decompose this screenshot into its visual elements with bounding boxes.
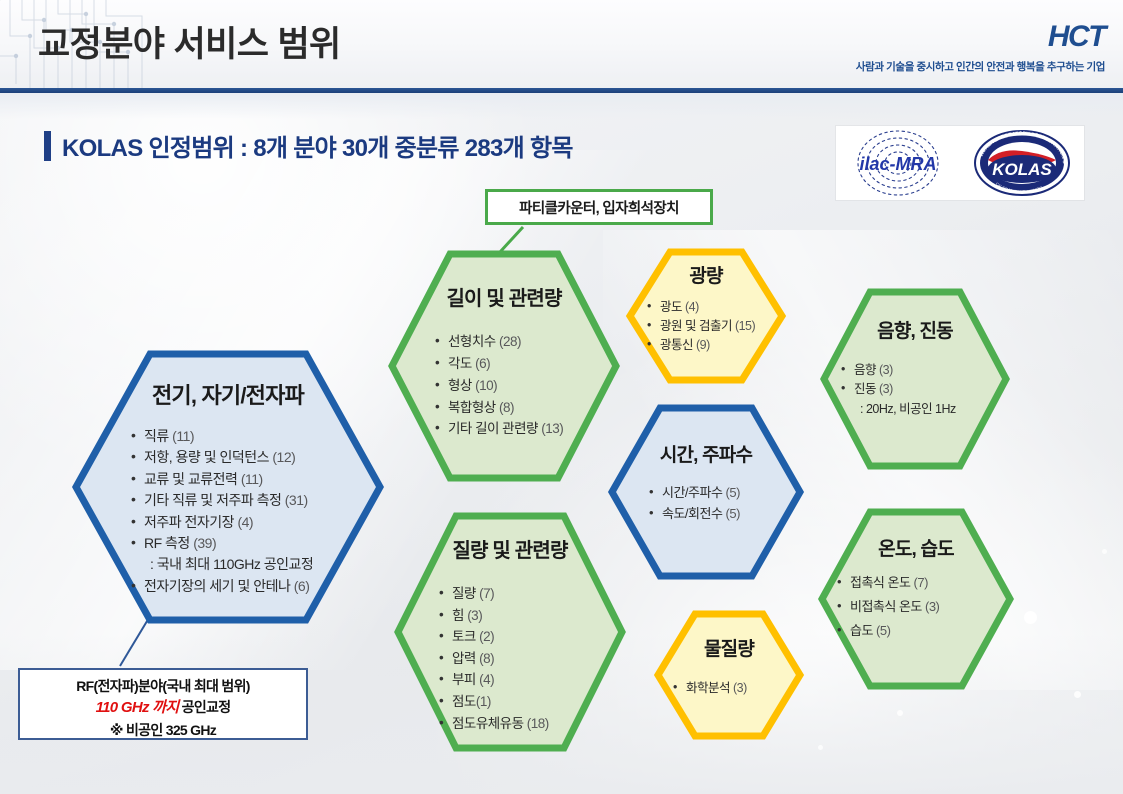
header-underglow xyxy=(0,93,1123,119)
list-item: 교류 및 교류전력 (11) xyxy=(130,469,313,490)
list-item: 전자기장의 세기 및 안테나 (6) xyxy=(130,576,313,597)
callout-rf-range: RF(전자파)분야(국내 최대 범위) 110 GHz 까지 공인교정 ※ 비공… xyxy=(18,668,308,740)
list-item: 질량 (7) xyxy=(438,583,549,605)
hexagon-item-list: 접촉식 온도 (7) 비접촉식 온도 (3) 습도 (5) xyxy=(836,571,939,643)
ilac-mra-logo: ilac-MRA xyxy=(839,128,957,198)
hexagon-title: 전기, 자기/전자파 xyxy=(152,378,304,410)
callout-rf-line3: ※ 비공인 325 GHz xyxy=(20,720,306,741)
list-item: 점도(1) xyxy=(438,691,549,713)
hexagon-temperature[interactable]: 온도, 습도 접촉식 온도 (7) 비접촉식 온도 (3) 습도 (5) xyxy=(818,508,1014,690)
hexagon-item-list: 광도 (4) 광원 및 검출기 (15) 광통신 (9) xyxy=(646,298,755,354)
list-item: 진동 (3) xyxy=(840,380,956,399)
list-item: 저항, 용량 및 인덕턴스 (12) xyxy=(130,447,313,468)
list-item: 직류 (11) xyxy=(130,426,313,447)
list-item: 저주파 전자기장 (4) xyxy=(130,512,313,533)
hexagon-title: 시간, 주파수 xyxy=(660,440,752,467)
list-item: 부피 (4) xyxy=(438,669,549,691)
hexagon-title: 온도, 습도 xyxy=(878,534,954,561)
list-item: 각도 (6) xyxy=(434,353,563,375)
list-item: RF 측정 (39) xyxy=(130,533,313,554)
list-item: 광통신 (9) xyxy=(646,336,755,355)
list-item: 속도/회전수 (5) xyxy=(648,504,740,525)
hexagon-electric[interactable]: 전기, 자기/전자파 직류 (11) 저항, 용량 및 인덕턴스 (12) 교류… xyxy=(72,350,384,624)
list-item: 습도 (5) xyxy=(836,619,939,643)
list-item: 시간/주파수 (5) xyxy=(648,483,740,504)
callout-particle-counter: 파티클카운터, 입자희석장치 xyxy=(485,189,713,225)
hexagon-item-list: 선형치수 (28) 각도 (6) 형상 (10) 복합형상 (8) 기타 길이 … xyxy=(434,331,563,440)
callout-rf-line1: RF(전자파)분야(국내 최대 범위) xyxy=(20,676,306,697)
list-item: 음향 (3) xyxy=(840,361,956,380)
callout-rf-highlight: 110 GHz 까지 xyxy=(96,699,179,716)
list-item: 선형치수 (28) xyxy=(434,331,563,353)
hexagon-length[interactable]: 길이 및 관련량 선형치수 (28) 각도 (6) 형상 (10) 복합형상 (… xyxy=(388,250,620,482)
hct-wordmark: HCT xyxy=(856,22,1105,52)
list-item: 토크 (2) xyxy=(438,626,549,648)
hexagon-time[interactable]: 시간, 주파수 시간/주파수 (5) 속도/회전수 (5) xyxy=(608,404,804,580)
bokeh-dot xyxy=(818,745,823,750)
hexagon-title: 길이 및 관련량 xyxy=(446,282,561,311)
hexagon-acoustic[interactable]: 음향, 진동 음향 (3) 진동 (3) : 20Hz, 비공인 1Hz xyxy=(820,288,1010,470)
list-item: 압력 (8) xyxy=(438,648,549,670)
bokeh-dot xyxy=(1074,691,1081,698)
hexagon-item-list: 시간/주파수 (5) 속도/회전수 (5) xyxy=(648,483,740,525)
list-item: 복합형상 (8) xyxy=(434,397,563,419)
hexagon-title: 물질량 xyxy=(704,634,754,661)
hexagon-item-list: 음향 (3) 진동 (3) : 20Hz, 비공인 1Hz xyxy=(840,361,956,419)
list-item: 광도 (4) xyxy=(646,298,755,317)
callout-rf-line2: 110 GHz 까지 공인교정 xyxy=(20,697,306,720)
hexagon-mass[interactable]: 질량 및 관련량 질량 (7) 힘 (3) 토크 (2) 압력 (8) 부피 (… xyxy=(394,512,626,752)
hexagon-title: 질량 및 관련량 xyxy=(452,534,567,563)
hexagon-item-list: 질량 (7) 힘 (3) 토크 (2) 압력 (8) 부피 (4) 점도(1) … xyxy=(438,583,549,734)
list-item: 기타 직류 및 저주파 측정 (31) xyxy=(130,490,313,511)
list-item-note: : 20Hz, 비공인 1Hz xyxy=(840,400,956,419)
hct-tagline: 사람과 기술을 중시하고 인간의 안전과 행복을 추구하는 기업 xyxy=(856,59,1105,74)
slide-header: 교정분야 서비스 범위 HCT 사람과 기술을 중시하고 인간의 안전과 행복을… xyxy=(0,0,1123,88)
list-item: 접촉식 온도 (7) xyxy=(836,571,939,595)
list-item-note: : 국내 최대 110GHz 공인교정 xyxy=(130,554,313,575)
subtitle-row: KOLAS 인정범위 : 8개 분야 30개 중분류 283개 항목 xyxy=(44,128,573,163)
list-item: 힘 (3) xyxy=(438,605,549,627)
slide-canvas: 교정분야 서비스 범위 HCT 사람과 기술을 중시하고 인간의 안전과 행복을… xyxy=(0,0,1123,794)
page-title: 교정분야 서비스 범위 xyxy=(38,16,341,67)
subtitle-text: KOLAS 인정범위 : 8개 분야 30개 중분류 283개 항목 xyxy=(62,128,573,163)
hct-logo: HCT 사람과 기술을 중시하고 인간의 안전과 행복을 추구하는 기업 xyxy=(856,22,1105,74)
hexagon-title: 음향, 진동 xyxy=(877,316,953,343)
hexagon-item-list: 직류 (11) 저항, 용량 및 인덕턴스 (12) 교류 및 교류전력 (11… xyxy=(130,426,313,597)
bokeh-dot xyxy=(1102,549,1107,554)
hexagon-item-list: 화학분석 (3) xyxy=(672,679,747,698)
list-item: 점도유체유동 (18) xyxy=(438,713,549,735)
callout-rf-line2-rest: 공인교정 xyxy=(178,699,230,715)
hexagon-light[interactable]: 광량 광도 (4) 광원 및 검출기 (15) 광통신 (9) xyxy=(626,248,786,384)
kolas-label: KOLAS xyxy=(992,160,1052,179)
list-item: 기타 길이 관련량 (13) xyxy=(434,418,563,440)
list-item: 화학분석 (3) xyxy=(672,679,747,698)
callout-particle-text: 파티클카운터, 입자희석장치 xyxy=(519,197,679,218)
list-item: 형상 (10) xyxy=(434,375,563,397)
list-item: 광원 및 검출기 (15) xyxy=(646,317,755,336)
bokeh-dot xyxy=(1024,611,1037,624)
list-item: 비접촉식 온도 (3) xyxy=(836,595,939,619)
hexagon-substance[interactable]: 물질량 화학분석 (3) xyxy=(654,610,804,740)
bokeh-dot xyxy=(897,710,903,716)
ilac-mra-label: ilac-MRA xyxy=(859,154,936,174)
subtitle-accent-bar xyxy=(44,131,51,161)
kolas-logo: KOLAS KOREA LABORATORY ACCREDITATION SCH… xyxy=(963,128,1081,198)
accreditation-logos: ilac-MRA KOLAS KOREA LABORATORY ACCREDIT… xyxy=(836,126,1084,200)
hexagon-title: 광량 xyxy=(689,261,722,288)
